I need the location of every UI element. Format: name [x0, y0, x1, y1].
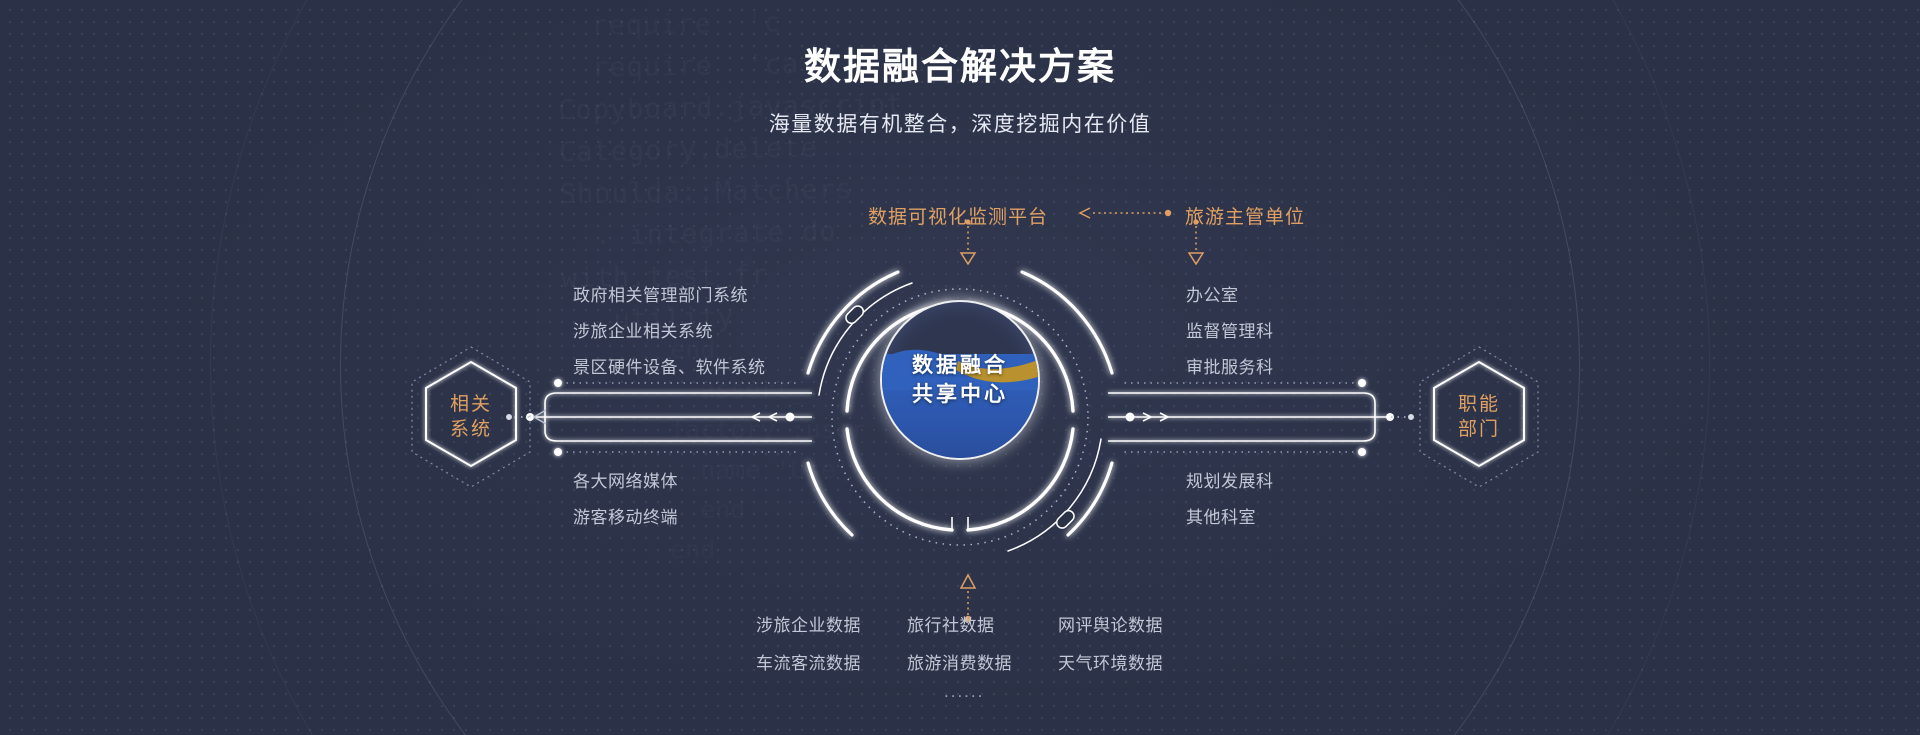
- right-hexagon-node[interactable]: 职能 部门: [1414, 344, 1544, 490]
- top-node-visualization-platform[interactable]: 数据可视化监测平台: [868, 202, 1048, 229]
- left-item-network-media[interactable]: 各大网络媒体: [573, 467, 678, 492]
- left-hex-line2: 系统: [450, 417, 492, 442]
- left-item-gov-dept-system[interactable]: 政府相关管理部门系统: [573, 281, 748, 306]
- bottom-item-online-opinion-data[interactable]: 网评舆论数据: [1058, 611, 1163, 636]
- top-node-tourism-authority[interactable]: 旅游主管单位: [1185, 202, 1305, 229]
- right-hexagon-text: 职能 部门: [1414, 344, 1544, 490]
- bottom-ellipsis: ......: [944, 682, 984, 702]
- top-horizontal-arrow: [1080, 208, 1171, 218]
- left-item-scenic-hardware-software[interactable]: 景区硬件设备、软件系统: [573, 353, 766, 378]
- right-hex-line1: 职能: [1458, 392, 1500, 417]
- center-line-2: 共享中心: [912, 380, 1008, 409]
- left-hex-line1: 相关: [450, 392, 492, 417]
- right-item-approval-service-dept[interactable]: 审批服务科: [1186, 353, 1274, 378]
- bottom-item-weather-environment-data[interactable]: 天气环境数据: [1058, 649, 1163, 674]
- bottom-item-tourism-consumption-data[interactable]: 旅游消费数据: [907, 649, 1012, 674]
- center-line-1: 数据融合: [912, 351, 1008, 380]
- bottom-item-traffic-flow-data[interactable]: 车流客流数据: [756, 649, 861, 674]
- bottom-item-tourism-enterprise-data[interactable]: 涉旅企业数据: [756, 611, 861, 636]
- left-item-tourism-enterprise-system[interactable]: 涉旅企业相关系统: [573, 317, 713, 342]
- left-item-tourist-mobile-terminal[interactable]: 游客移动终端: [573, 503, 678, 528]
- ring-node-lower-right: [1054, 508, 1076, 530]
- right-hex-connector: [1391, 414, 1414, 420]
- right-item-planning-dev-dept[interactable]: 规划发展科: [1186, 467, 1274, 492]
- right-item-supervision-dept[interactable]: 监督管理科: [1186, 317, 1274, 342]
- center-globe-text: 数据融合 共享中心: [882, 302, 1038, 458]
- center-hub[interactable]: 数据融合 共享中心: [830, 250, 1090, 510]
- bottom-item-travel-agency-data[interactable]: 旅行社数据: [907, 611, 995, 636]
- center-globe: 数据融合 共享中心: [880, 300, 1040, 460]
- right-hex-line2: 部门: [1458, 417, 1500, 442]
- left-hexagon-text: 相关 系统: [406, 344, 536, 490]
- right-item-office[interactable]: 办公室: [1186, 281, 1239, 306]
- right-item-other-depts[interactable]: 其他科室: [1186, 503, 1256, 528]
- left-hexagon-node[interactable]: 相关 系统: [406, 344, 536, 490]
